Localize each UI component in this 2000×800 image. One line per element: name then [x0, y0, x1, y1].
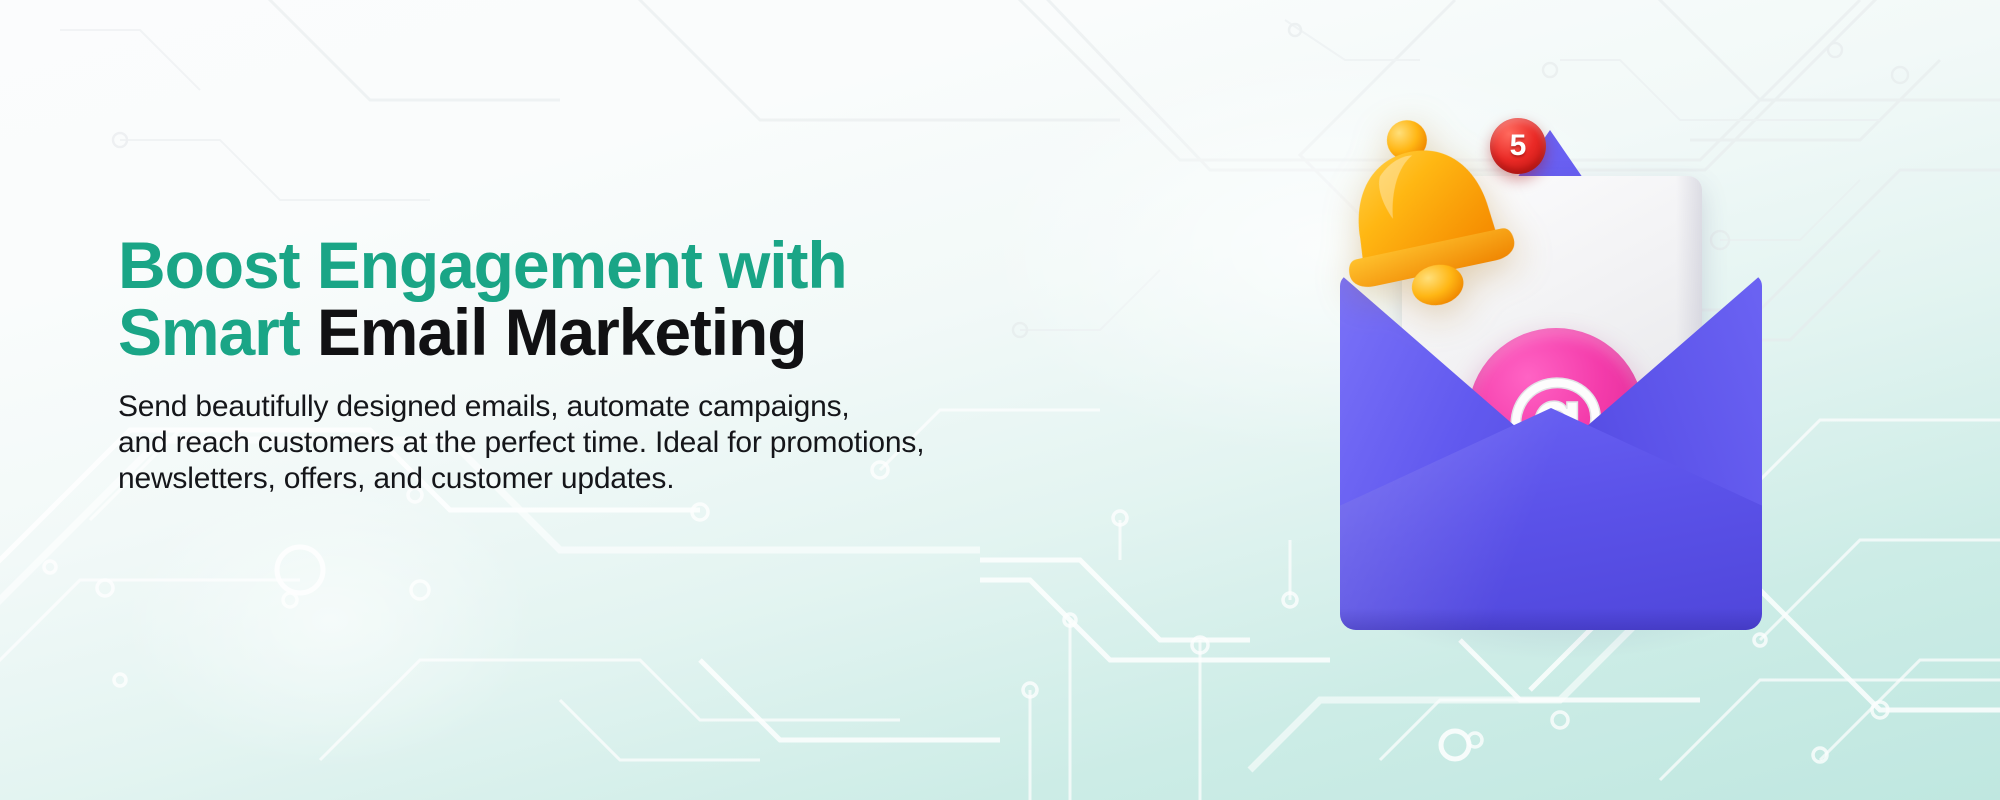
headline-line-2: Smart Email Marketing — [118, 299, 998, 366]
headline-plain-words: Email Marketing — [300, 295, 807, 369]
notification-count-badge: 5 — [1490, 118, 1546, 174]
headline-line-1: Boost Engagement with — [118, 232, 998, 299]
envelope-base-shade — [1340, 608, 1762, 630]
page-title: Boost Engagement with Smart Email Market… — [118, 232, 998, 367]
headline-accent-word: Smart — [118, 295, 300, 369]
email-marketing-hero-banner: Boost Engagement with Smart Email Market… — [0, 0, 2000, 800]
description-line-1: Send beautifully designed emails, automa… — [118, 389, 998, 425]
description-line-3: newsletters, offers, and customer update… — [118, 461, 998, 497]
description-line-2: and reach customers at the perfect time.… — [118, 425, 998, 461]
background-glow-left — [120, 470, 540, 770]
envelope-icon: @ — [1316, 108, 1786, 648]
hero-copy-block: Boost Engagement with Smart Email Market… — [118, 232, 998, 498]
notification-count-value: 5 — [1510, 131, 1527, 161]
hero-description: Send beautifully designed emails, automa… — [118, 389, 998, 498]
